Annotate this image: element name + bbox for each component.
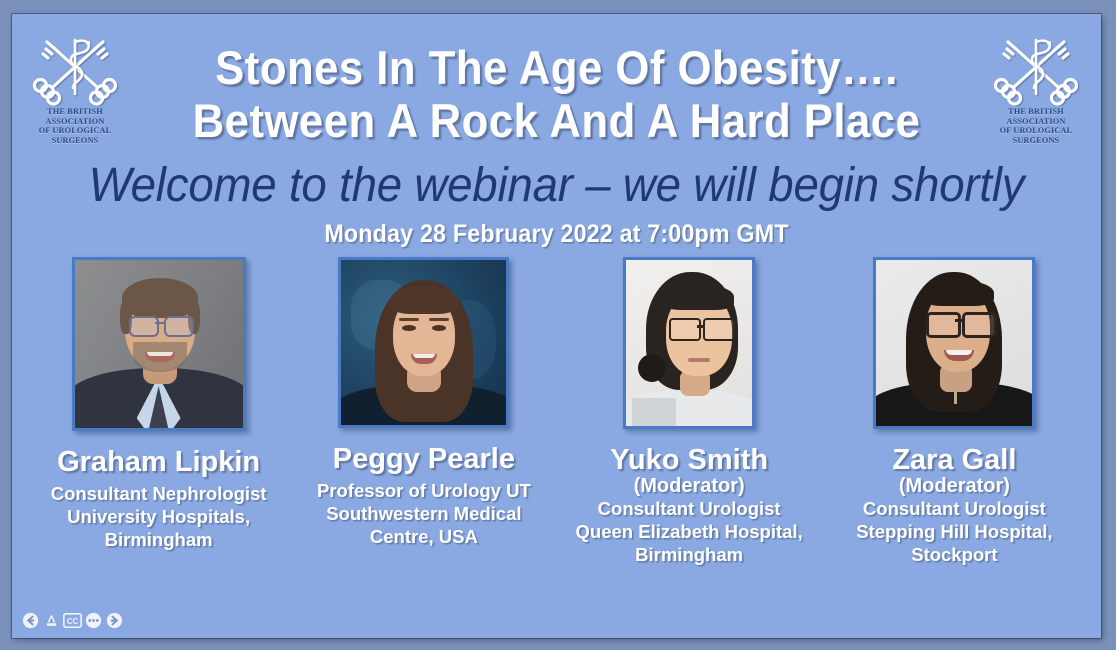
- baus-wordmark-line2: OF UROLOGICAL SURGEONS: [987, 126, 1085, 145]
- baus-logo-left: THE BRITISH ASSOCIATION OF UROLOGICAL SU…: [26, 32, 124, 136]
- speakers-row: Graham Lipkin Consultant Nephrologist Un…: [26, 257, 1087, 566]
- speaker-name: Zara Gall: [892, 445, 1016, 475]
- more-options-button[interactable]: [85, 612, 102, 629]
- annotation-tool-button[interactable]: [43, 612, 60, 629]
- ellipsis-circle-icon: [85, 612, 102, 629]
- speaker-card: Yuko Smith (Moderator) Consultant Urolog…: [564, 257, 814, 566]
- speaker-card: Graham Lipkin Consultant Nephrologist Un…: [34, 257, 284, 551]
- next-slide-button[interactable]: [106, 612, 123, 629]
- slide-stage: THE BRITISH ASSOCIATION OF UROLOGICAL SU…: [12, 14, 1101, 638]
- svg-text:CC: CC: [67, 617, 79, 626]
- speaker-moderator-tag: (Moderator): [899, 475, 1010, 498]
- speaker-affiliation: Professor of Urology UT Southwestern Med…: [317, 480, 531, 548]
- webinar-datetime: Monday 28 February 2022 at 7:00pm GMT: [50, 220, 1063, 249]
- baus-logo-right-wordmark: THE BRITISH ASSOCIATION OF UROLOGICAL SU…: [987, 107, 1085, 146]
- player-controls: CC: [22, 612, 123, 629]
- portrait-peggy-pearle: [341, 260, 506, 425]
- speaker-card: Peggy Pearle Professor of Urology UT Sou…: [299, 257, 549, 548]
- slide-title-line-1: Stones In The Age Of Obesity….: [50, 44, 1063, 91]
- speaker-card: Zara Gall (Moderator) Consultant Urologi…: [829, 257, 1079, 566]
- portrait-zara-gall: [876, 260, 1032, 426]
- baus-wordmark-line1: THE BRITISH ASSOCIATION: [987, 107, 1085, 126]
- baus-wordmark-line2: OF UROLOGICAL SURGEONS: [26, 126, 124, 145]
- cc-icon: CC: [63, 613, 82, 628]
- portrait-frame: [72, 257, 246, 431]
- portrait-frame: [338, 257, 509, 428]
- speaker-moderator-tag: (Moderator): [634, 475, 745, 498]
- portrait-frame: [623, 257, 755, 429]
- webinar-slide-viewer: THE BRITISH ASSOCIATION OF UROLOGICAL SU…: [0, 0, 1116, 650]
- speaker-name: Graham Lipkin: [57, 447, 260, 477]
- speaker-name: Peggy Pearle: [333, 444, 515, 474]
- viewer-shell: THE BRITISH ASSOCIATION OF UROLOGICAL SU…: [0, 0, 1116, 650]
- speaker-name: Yuko Smith: [610, 445, 768, 475]
- speaker-affiliation: Consultant Nephrologist University Hospi…: [51, 483, 267, 551]
- portrait-graham-lipkin: [75, 260, 243, 428]
- speaker-affiliation: Consultant Urologist Stepping Hill Hospi…: [856, 498, 1052, 566]
- welcome-message: Welcome to the webinar – we will begin s…: [39, 162, 1074, 210]
- baus-logo-left-wordmark: THE BRITISH ASSOCIATION OF UROLOGICAL SU…: [26, 107, 124, 146]
- baus-logo-right: THE BRITISH ASSOCIATION OF UROLOGICAL SU…: [987, 32, 1085, 136]
- speaker-affiliation: Consultant Urologist Queen Elizabeth Hos…: [576, 498, 803, 566]
- portrait-yuko-smith: [626, 260, 752, 426]
- portrait-frame: [873, 257, 1035, 429]
- crossed-keys-serpent-icon: [987, 32, 1085, 106]
- arrow-left-circle-icon: [22, 612, 39, 629]
- slide-title: Stones In The Age Of Obesity…. Between A…: [12, 44, 1101, 144]
- pen-tool-icon: [43, 612, 60, 629]
- slide-title-line-2: Between A Rock And A Hard Place: [50, 97, 1063, 144]
- crossed-keys-serpent-icon: [26, 32, 124, 106]
- baus-wordmark-line1: THE BRITISH ASSOCIATION: [26, 107, 124, 126]
- arrow-right-circle-icon: [106, 612, 123, 629]
- closed-captions-button[interactable]: CC: [64, 612, 81, 629]
- previous-slide-button[interactable]: [22, 612, 39, 629]
